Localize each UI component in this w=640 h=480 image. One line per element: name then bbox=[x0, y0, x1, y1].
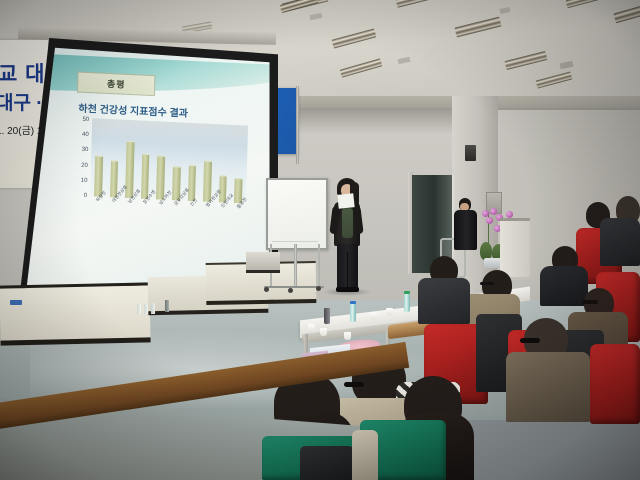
bottle-cap-icon bbox=[404, 291, 410, 294]
presenter-floor-shadow bbox=[322, 288, 372, 296]
paper-cup bbox=[386, 308, 393, 316]
water-bottle bbox=[404, 294, 410, 312]
front-row-seat-back bbox=[300, 446, 354, 480]
paper-cup bbox=[370, 312, 377, 320]
wall-cabinet-left bbox=[0, 282, 151, 345]
attendee-eyeglasses-icon bbox=[344, 382, 364, 387]
chart-y-tick: 50 bbox=[68, 116, 89, 123]
wall-radiator bbox=[246, 252, 280, 273]
attendee-eyeglasses-icon bbox=[480, 282, 494, 285]
paper-cup bbox=[320, 328, 327, 336]
banner-left-line2: 대구 · bbox=[0, 88, 43, 115]
side-podium bbox=[500, 218, 530, 277]
floor-bottle bbox=[151, 303, 155, 314]
attendee-body bbox=[540, 266, 588, 306]
whiteboard-caster-icon bbox=[288, 288, 293, 293]
presenter-handout bbox=[337, 193, 354, 209]
presentation-slide: 총평 하천 건강성 지표점수 결과 01020304050 하랑천대현천상류남천… bbox=[39, 54, 269, 298]
attendee-eyeglasses-icon bbox=[582, 300, 598, 304]
whiteboard-caster-icon bbox=[264, 287, 269, 292]
whiteboard-base bbox=[264, 286, 324, 288]
projection-screen-surface: 총평 하천 건강성 지표점수 결과 01020304050 하랑천대현천상류남천… bbox=[24, 44, 272, 298]
orchid-flower bbox=[506, 211, 513, 218]
chart-y-tick: 30 bbox=[67, 146, 88, 153]
chart-y-tick: 40 bbox=[68, 131, 89, 138]
orchid-flower bbox=[486, 217, 493, 224]
chart-y-tick: 20 bbox=[67, 162, 88, 169]
floor-bottle bbox=[137, 304, 141, 314]
presenter-leg-gap bbox=[347, 252, 348, 287]
attendee-body bbox=[418, 278, 470, 324]
paper-cup bbox=[308, 324, 315, 332]
floor-bottle bbox=[165, 300, 169, 312]
floor-bottle bbox=[144, 304, 148, 314]
whiteboard-caster-icon bbox=[316, 286, 321, 291]
whiteboard-leg bbox=[318, 244, 320, 286]
wall-speaker bbox=[465, 145, 476, 161]
attendee-body bbox=[506, 352, 590, 422]
banner-pole bbox=[296, 86, 299, 164]
slide-header-box: 총평 bbox=[77, 72, 156, 97]
banner-left-date: 1. 20(금) 1 bbox=[0, 122, 42, 137]
auditorium-seat bbox=[590, 344, 640, 424]
bar-chart: 01020304050 하랑천대현천상류남천상류창천수변남소하천금호강상류신천범… bbox=[65, 117, 248, 225]
cabinet-label-tag bbox=[10, 300, 22, 305]
attendee-eyeglasses-icon bbox=[520, 338, 540, 343]
bottle-cap-icon bbox=[350, 301, 356, 304]
paper-cup bbox=[344, 332, 351, 340]
presenter-inner-top bbox=[342, 208, 353, 238]
water-bottle bbox=[350, 304, 356, 322]
banner-left-line1: 교 대 bbox=[0, 58, 45, 88]
whiteboard-center-post bbox=[294, 244, 297, 288]
photograph-conference-hall: 교 대 대구 · 1. 20(금) 1 표회 회 국대학교 환경공학과 총평 하… bbox=[0, 0, 640, 480]
water-bottle bbox=[324, 308, 330, 324]
seat-armrest bbox=[352, 430, 378, 480]
slide-title: 하천 건강성 지표점수 결과 bbox=[78, 100, 188, 120]
attendee-body bbox=[600, 218, 640, 266]
presenter-standing bbox=[326, 178, 368, 294]
slide-header-label: 총평 bbox=[107, 77, 126, 91]
orchid-flower bbox=[482, 210, 489, 217]
chart-bar bbox=[187, 165, 196, 201]
orchid-flower bbox=[490, 208, 497, 215]
mobile-whiteboard[interactable] bbox=[266, 178, 328, 250]
chart-y-tick: 0 bbox=[66, 192, 87, 199]
chart-y-tick: 10 bbox=[66, 177, 87, 184]
